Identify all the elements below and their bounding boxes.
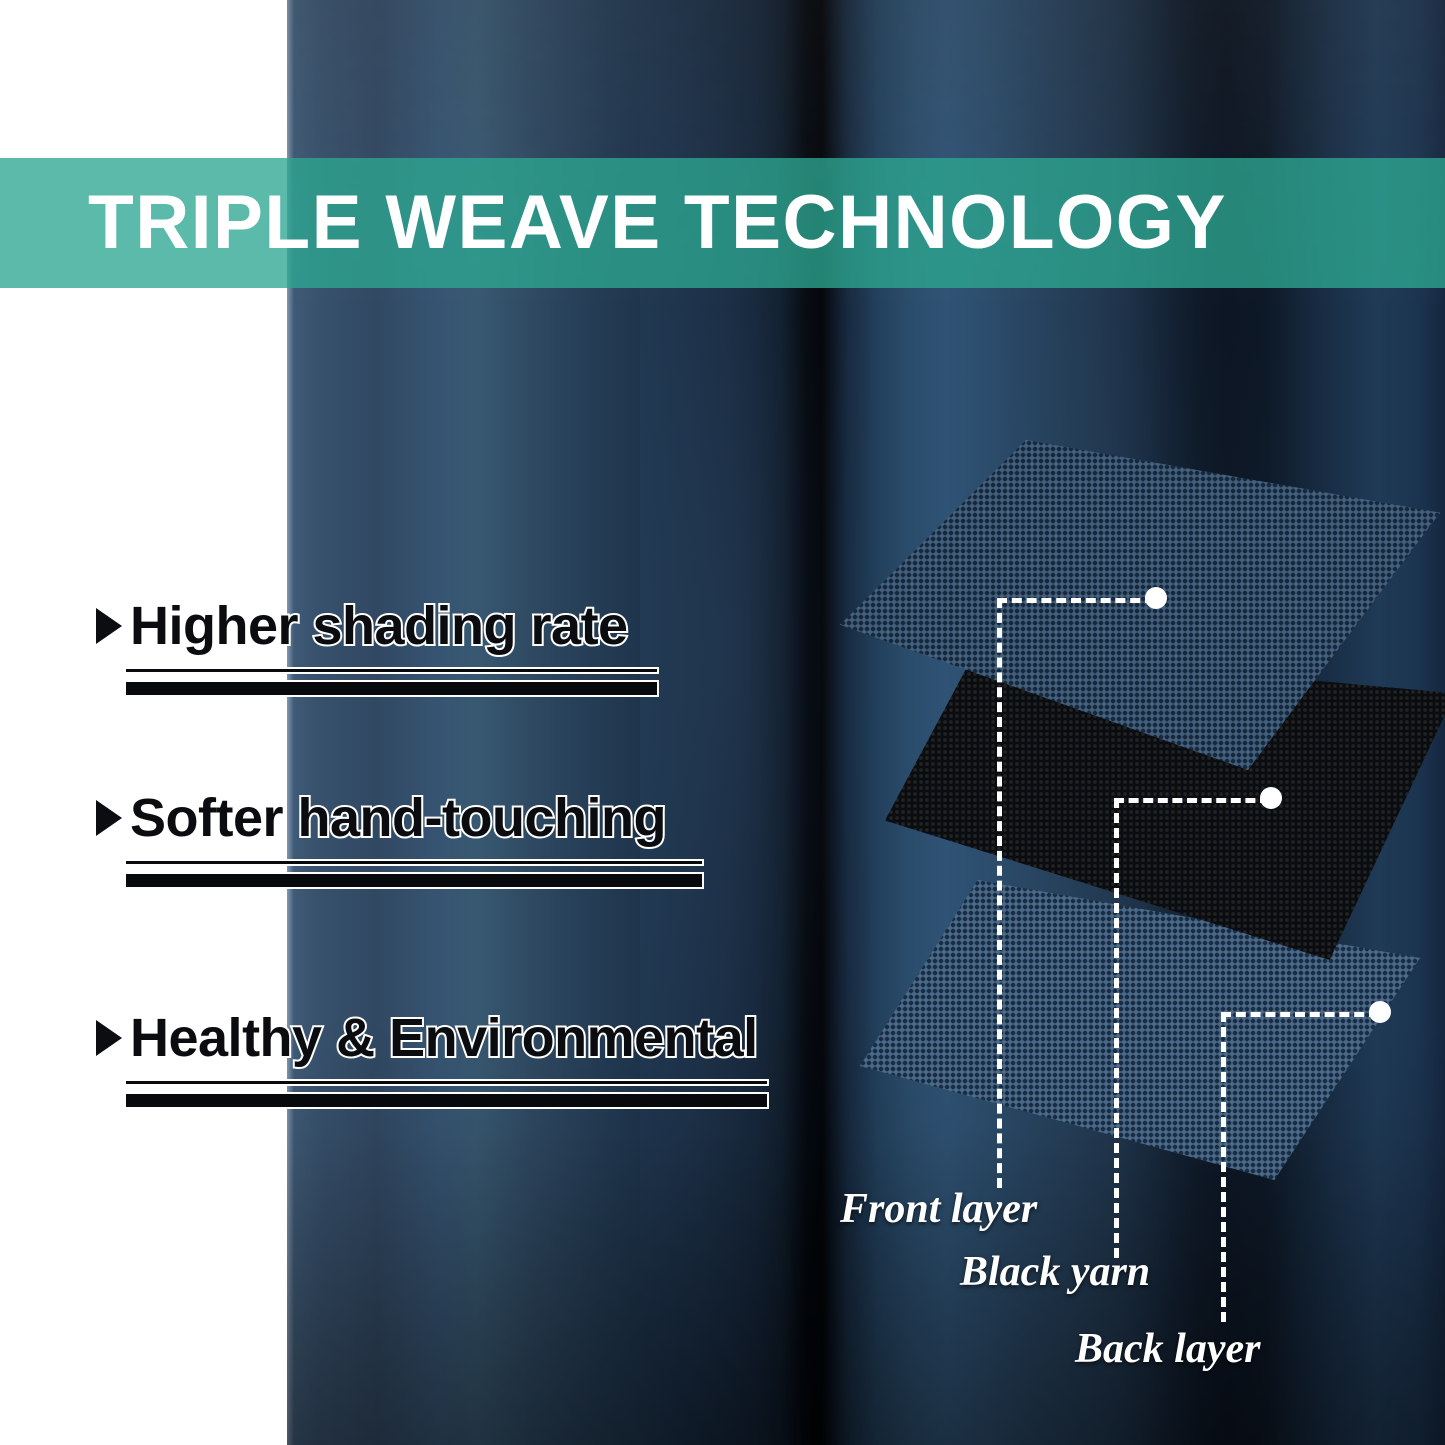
feature-item-3: Healthy & Environmental: [96, 1010, 769, 1109]
layer-label-black-yarn: Black yarn: [960, 1248, 1150, 1296]
triangle-right-icon: [96, 608, 122, 644]
callout-2-horizontal-line: [1114, 798, 1270, 803]
feature-item-2: Softer hand-touching: [96, 790, 704, 889]
callout-3-dot-marker: [1369, 1001, 1391, 1023]
layer-label-front: Front layer: [840, 1185, 1037, 1233]
triangle-right-icon: [96, 800, 122, 836]
product-infographic: TRIPLE WEAVE TECHNOLOGY Higher shading r…: [0, 0, 1445, 1445]
underline-thick: [124, 680, 659, 697]
underline-thick: [124, 872, 704, 889]
headline-title: TRIPLE WEAVE TECHNOLOGY: [88, 185, 1227, 261]
triangle-right-icon: [96, 1020, 122, 1056]
feature-label-2: Softer hand-touching: [130, 790, 666, 847]
triple-weave-layer-diagram: [830, 420, 1445, 1220]
underline-thick: [124, 1092, 769, 1109]
callout-2-dot-marker: [1260, 787, 1282, 809]
callout-2-vertical-line: [1114, 798, 1119, 1258]
feature-label-3: Healthy & Environmental: [130, 1010, 758, 1067]
callout-3-vertical-line: [1221, 1012, 1226, 1322]
feature-underline-1: [124, 667, 659, 697]
layer-label-back: Back layer: [1075, 1325, 1260, 1373]
feature-item-1: Higher shading rate: [96, 598, 659, 697]
feature-underline-3: [124, 1079, 769, 1109]
underline-thin: [124, 859, 704, 866]
callout-1-horizontal-line: [997, 598, 1155, 603]
feature-underline-2: [124, 859, 704, 889]
feature-label-1: Higher shading rate: [130, 598, 628, 655]
callout-3-horizontal-line: [1221, 1012, 1379, 1017]
underline-thin: [124, 1079, 769, 1086]
callout-1-vertical-line: [997, 598, 1002, 1188]
underline-thin: [124, 667, 659, 674]
headline-banner: TRIPLE WEAVE TECHNOLOGY: [0, 158, 1445, 288]
callout-1-dot-marker: [1145, 587, 1167, 609]
